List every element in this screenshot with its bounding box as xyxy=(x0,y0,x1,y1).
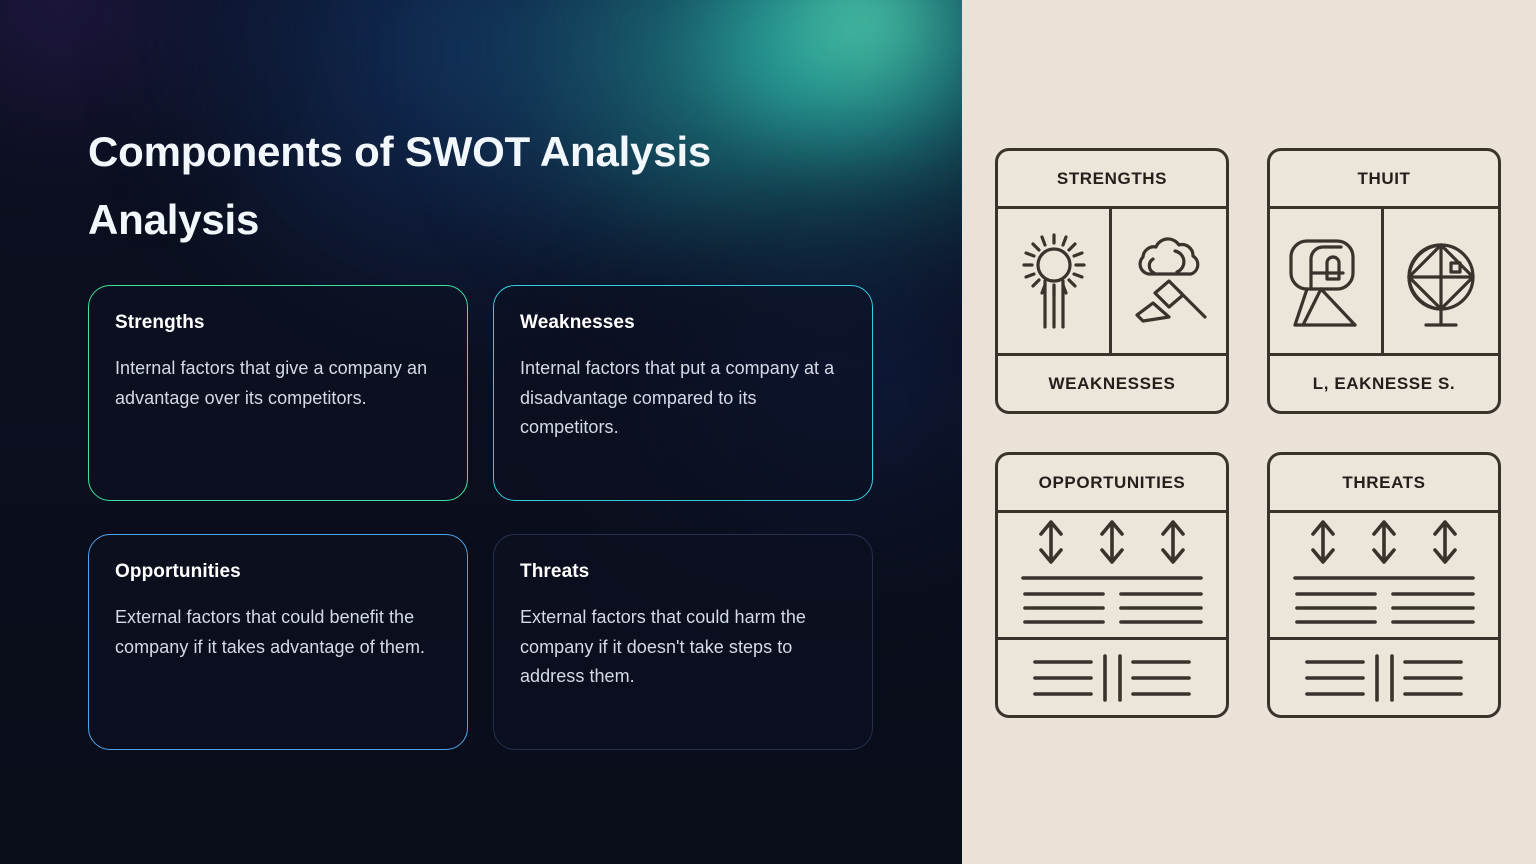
swot-slide: Components of SWOT Analysis Analysis Str… xyxy=(0,0,1536,864)
illustration-card-strengths: STRENGTHS xyxy=(995,148,1229,414)
divider-lines-icon xyxy=(1017,652,1207,704)
swot-card-body: External factors that could harm the com… xyxy=(520,603,844,692)
illustration-card-header: OPPORTUNITIES xyxy=(998,455,1226,513)
illustration-card-footer: WEAKNESSES xyxy=(998,353,1226,411)
illustration-card-opportunities: OPPORTUNITIES xyxy=(995,452,1229,718)
icon-cell xyxy=(998,209,1112,353)
swot-cards-grid: Strengths Internal factors that give a c… xyxy=(88,285,873,750)
icon-cell xyxy=(1112,209,1226,353)
swot-card-title: Strengths xyxy=(115,312,439,334)
page-title-line-1: Components of SWOT Analysis xyxy=(88,128,711,175)
icon-cell xyxy=(1384,209,1498,353)
illustration-card-body xyxy=(1270,513,1498,637)
swot-card-body: Internal factors that give a company an … xyxy=(115,354,439,413)
left-content-panel: Components of SWOT Analysis Analysis Str… xyxy=(0,0,962,864)
illustration-card-header: THREATS xyxy=(1270,455,1498,513)
up-down-arrows-lines-icon xyxy=(1289,514,1479,636)
up-down-arrows-lines-icon xyxy=(1017,514,1207,636)
swot-card-body: External factors that could benefit the … xyxy=(115,603,439,662)
illustration-card-body xyxy=(998,513,1226,637)
swot-card-title: Threats xyxy=(520,561,844,583)
right-illustration-panel: STRENGTHS xyxy=(962,0,1536,864)
abstract-mailbox-icon xyxy=(1281,229,1371,333)
illustration-card-footer xyxy=(1270,637,1498,715)
swot-card-strengths[interactable]: Strengths Internal factors that give a c… xyxy=(88,285,468,501)
illustration-card-footer xyxy=(998,637,1226,715)
swot-card-weaknesses[interactable]: Weaknesses Internal factors that put a c… xyxy=(493,285,873,501)
swot-card-threats[interactable]: Threats External factors that could harm… xyxy=(493,534,873,750)
icon-cell xyxy=(1270,209,1384,353)
swot-card-title: Opportunities xyxy=(115,561,439,583)
illustration-grid: STRENGTHS xyxy=(995,148,1511,718)
divider-lines-icon xyxy=(1289,652,1479,704)
globe-tree-icon xyxy=(1396,229,1486,333)
cloud-gavel-icon xyxy=(1123,229,1215,333)
swot-card-opportunities[interactable]: Opportunities External factors that coul… xyxy=(88,534,468,750)
illustration-card-body xyxy=(998,209,1226,353)
swot-card-body: Internal factors that put a company at a… xyxy=(520,354,844,443)
illustration-card-thuit: THUIT xyxy=(1267,148,1501,414)
page-title-line-2: Analysis xyxy=(88,196,259,243)
page-title: Components of SWOT Analysis Analysis xyxy=(88,118,848,254)
swot-card-title: Weaknesses xyxy=(520,312,844,334)
illustration-card-header: STRENGTHS xyxy=(998,151,1226,209)
illustration-card-body xyxy=(1270,209,1498,353)
illustration-card-threats: THREATS xyxy=(1267,452,1501,718)
illustration-card-header: THUIT xyxy=(1270,151,1498,209)
sun-person-icon xyxy=(1011,229,1097,333)
illustration-card-footer: L, EAKNESSE S. xyxy=(1270,353,1498,411)
